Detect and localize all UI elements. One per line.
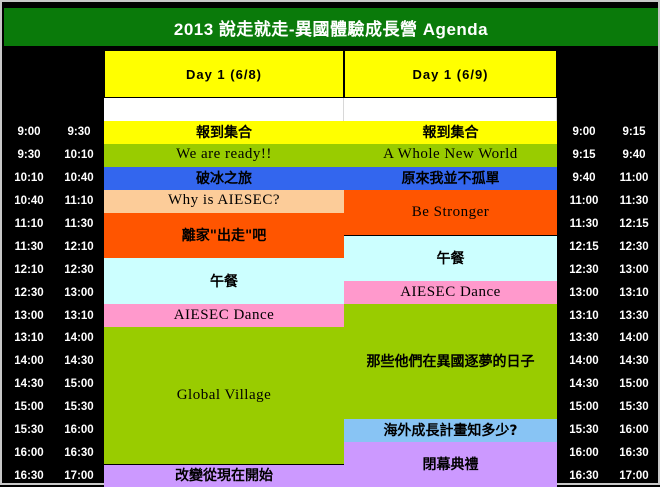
time-end: 12:15: [609, 218, 659, 230]
time-right-row: 11:0011:30: [559, 190, 659, 213]
time-right-row: 13:3014:00: [559, 327, 659, 350]
time-end: 10:10: [54, 149, 104, 161]
activity-block[interactable]: AIESEC Dance: [344, 281, 557, 304]
time-end: 13:10: [54, 310, 104, 322]
day-header-row: Day 1 (6/8) Day 1 (6/9): [104, 50, 557, 98]
time-start: 10:10: [4, 172, 54, 184]
time-start: 13:10: [559, 310, 609, 322]
time-end: 10:40: [54, 172, 104, 184]
activity-label: We are ready!!: [172, 146, 276, 163]
time-left-row: 16:3017:00: [4, 464, 104, 487]
time-start: 14:30: [4, 378, 54, 390]
time-right-row: 12:3013:00: [559, 258, 659, 281]
page-title-banner: 2013 說走就走-異國體驗成長營 Agenda: [4, 8, 658, 46]
time-end: 14:00: [54, 332, 104, 344]
activity-block[interactable]: 破冰之旅: [104, 167, 344, 190]
agenda-sheet: 2013 說走就走-異國體驗成長營 Agenda Day 1 (6/8) Day…: [0, 0, 660, 485]
activity-block[interactable]: Global Village: [104, 327, 344, 464]
activity-label: 閉幕典禮: [419, 454, 483, 474]
time-right-row: 13:1013:30: [559, 304, 659, 327]
activity-block[interactable]: 報到集合: [104, 121, 344, 144]
activity-label: A Whole New World: [379, 146, 522, 163]
time-left-row: 13:1014:00: [4, 327, 104, 350]
time-right-row: 13:0013:10: [559, 281, 659, 304]
time-end: 16:30: [54, 447, 104, 459]
activity-block[interactable]: 午餐: [344, 236, 557, 282]
time-end: 11:00: [609, 172, 659, 184]
activity-label: 破冰之旅: [192, 168, 256, 188]
activity-block[interactable]: 海外成長計畫知多少?: [344, 419, 557, 442]
time-start: 11:10: [4, 218, 54, 230]
time-start: 11:30: [559, 218, 609, 230]
time-end: 11:30: [54, 218, 104, 230]
time-start: 16:30: [4, 470, 54, 482]
time-left-row: 14:0014:30: [4, 350, 104, 373]
time-end: 9:40: [609, 149, 659, 161]
time-start: 9:30: [4, 149, 54, 161]
activity-label: 原來我並不孤單: [398, 168, 504, 188]
time-end: 11:10: [54, 195, 104, 207]
activity-block[interactable]: AIESEC Dance: [104, 304, 344, 327]
time-end: 15:30: [609, 401, 659, 413]
activity-block[interactable]: Why is AIESEC?: [104, 190, 344, 213]
time-left-row: 12:3013:00: [4, 281, 104, 304]
time-right-row: 14:0014:30: [559, 350, 659, 373]
time-end: 14:00: [609, 332, 659, 344]
activity-block[interactable]: 閉幕典禮: [344, 442, 557, 487]
time-start: 15:30: [4, 424, 54, 436]
time-start: 9:15: [559, 149, 609, 161]
time-left-row: 13:0013:10: [4, 304, 104, 327]
time-right-row: 9:159:40: [559, 144, 659, 167]
time-end: 9:15: [609, 126, 659, 138]
time-end: 15:30: [54, 401, 104, 413]
spacer-row: [104, 98, 557, 121]
time-right-row: 16:3017:00: [559, 464, 659, 487]
time-right-row: 15:3016:00: [559, 419, 659, 442]
time-start: 12:10: [4, 264, 54, 276]
activity-block[interactable]: 改變從現在開始: [104, 465, 344, 487]
time-end: 9:30: [54, 126, 104, 138]
activity-block[interactable]: Be Stronger: [344, 190, 557, 236]
time-start: 9:00: [559, 126, 609, 138]
activity-block[interactable]: 午餐: [104, 258, 344, 304]
time-end: 11:30: [609, 195, 659, 207]
time-end: 12:30: [54, 264, 104, 276]
activity-label: 那些他們在異國逐夢的日子: [363, 351, 539, 371]
time-left-row: 15:3016:00: [4, 419, 104, 442]
time-left-row: 11:1011:30: [4, 213, 104, 236]
time-start: 15:00: [4, 401, 54, 413]
time-start: 11:00: [559, 195, 609, 207]
activity-label: 海外成長計畫知多少?: [379, 420, 521, 440]
activity-label: AIESEC Dance: [170, 307, 279, 324]
time-end: 13:00: [54, 287, 104, 299]
time-left-row: 10:4011:10: [4, 190, 104, 213]
time-left-row: 16:0016:30: [4, 441, 104, 464]
time-end: 17:00: [609, 470, 659, 482]
time-end: 13:10: [609, 287, 659, 299]
time-right-row: 9:4011:00: [559, 167, 659, 190]
time-start: 14:00: [4, 355, 54, 367]
time-start: 16:00: [4, 447, 54, 459]
time-right-row: 11:3012:15: [559, 213, 659, 236]
activity-label: Why is AIESEC?: [164, 192, 284, 209]
time-right-row: 15:0015:30: [559, 396, 659, 419]
time-start: 9:40: [559, 172, 609, 184]
time-left-row: 9:009:30: [4, 121, 104, 144]
time-start: 15:30: [559, 424, 609, 436]
time-start: 13:00: [559, 287, 609, 299]
time-right-row: 9:009:15: [559, 121, 659, 144]
activity-label: Be Stronger: [408, 204, 494, 221]
time-end: 17:00: [54, 470, 104, 482]
time-start: 14:00: [559, 355, 609, 367]
time-end: 15:00: [54, 378, 104, 390]
activity-label: 改變從現在開始: [171, 465, 277, 485]
time-left-row: 15:0015:30: [4, 396, 104, 419]
time-right-row: 14:3015:00: [559, 373, 659, 396]
time-left-row: 9:3010:10: [4, 144, 104, 167]
time-end: 16:00: [609, 424, 659, 436]
time-column-right: 9:009:159:159:409:4011:0011:0011:3011:30…: [559, 121, 659, 487]
time-end: 16:00: [54, 424, 104, 436]
activity-block[interactable]: 那些他們在異國逐夢的日子: [344, 304, 557, 419]
time-end: 13:00: [609, 264, 659, 276]
time-start: 12:15: [559, 241, 609, 253]
activity-label: Global Village: [173, 387, 276, 404]
time-left-row: 11:3012:10: [4, 235, 104, 258]
time-start: 15:00: [559, 401, 609, 413]
column-header-day2: Day 1 (6/9): [344, 50, 557, 98]
time-start: 9:00: [4, 126, 54, 138]
time-end: 12:30: [609, 241, 659, 253]
time-right-row: 12:1512:30: [559, 235, 659, 258]
time-start: 14:30: [559, 378, 609, 390]
page-title: 2013 說走就走-異國體驗成長營 Agenda: [174, 15, 488, 40]
spacer-cell-day1: [104, 98, 344, 121]
time-left-row: 10:1010:40: [4, 167, 104, 190]
activity-label: 午餐: [206, 271, 242, 291]
time-end: 12:10: [54, 241, 104, 253]
activity-label: AIESEC Dance: [396, 284, 505, 301]
activity-label: 報到集合: [419, 122, 483, 142]
activity-label: 離家"出走"吧: [178, 225, 271, 245]
time-column-left: 9:009:309:3010:1010:1010:4010:4011:1011:…: [4, 121, 104, 487]
time-end: 14:30: [54, 355, 104, 367]
time-start: 12:30: [4, 287, 54, 299]
time-end: 13:30: [609, 310, 659, 322]
activity-label: 報到集合: [192, 122, 256, 142]
time-start: 16:30: [559, 470, 609, 482]
column-header-day1: Day 1 (6/8): [104, 50, 344, 98]
time-start: 13:30: [559, 332, 609, 344]
time-left-row: 14:3015:00: [4, 373, 104, 396]
time-left-row: 12:1012:30: [4, 258, 104, 281]
activity-block[interactable]: We are ready!!: [104, 144, 344, 167]
time-start: 13:10: [4, 332, 54, 344]
time-start: 11:30: [4, 241, 54, 253]
activity-label: 午餐: [433, 248, 469, 268]
activity-block[interactable]: 原來我並不孤單: [344, 167, 557, 190]
spacer-cell-day2: [344, 98, 557, 121]
time-end: 15:00: [609, 378, 659, 390]
time-start: 10:40: [4, 195, 54, 207]
activity-block[interactable]: A Whole New World: [344, 144, 557, 167]
time-start: 13:00: [4, 310, 54, 322]
time-right-row: 16:0016:30: [559, 441, 659, 464]
time-end: 16:30: [609, 447, 659, 459]
time-start: 16:00: [559, 447, 609, 459]
time-start: 12:30: [559, 264, 609, 276]
activity-block[interactable]: 離家"出走"吧: [104, 213, 344, 259]
activity-block[interactable]: 報到集合: [344, 121, 557, 144]
time-end: 14:30: [609, 355, 659, 367]
